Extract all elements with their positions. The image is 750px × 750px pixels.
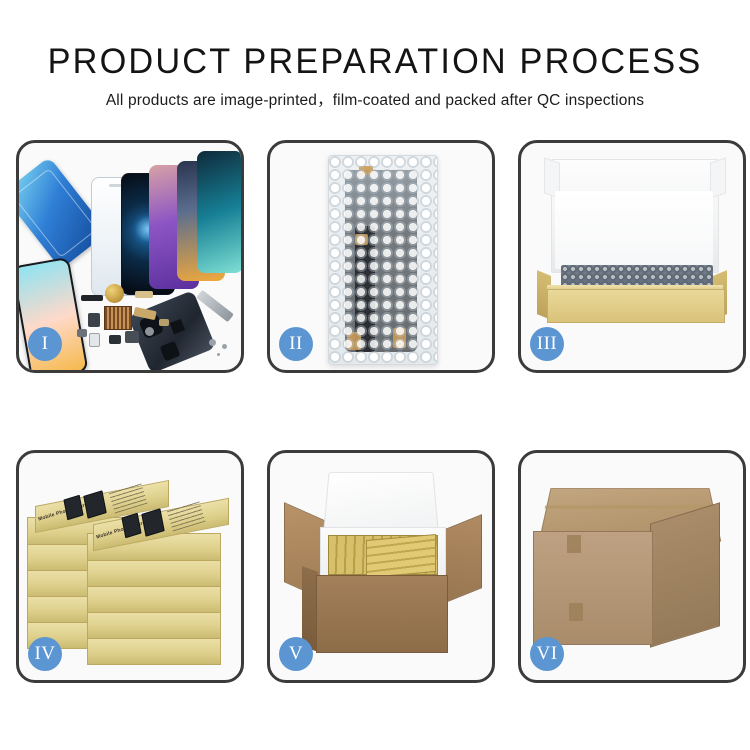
- copper-coil-part-icon: [105, 284, 124, 303]
- spare-part-icon: [159, 319, 169, 326]
- spare-part-icon: [89, 333, 100, 347]
- chip-grid-part-icon: [104, 306, 132, 330]
- gold-boxes-row-icon: [366, 534, 436, 578]
- spare-part-icon: [145, 327, 154, 336]
- spare-part-icon: [88, 313, 100, 327]
- carton-front-face: [316, 575, 448, 653]
- phone-teal-icon: [197, 151, 243, 273]
- page-header: PRODUCT PREPARATION PROCESS All products…: [0, 0, 750, 111]
- process-step-4: Mobile Phone Spare Parts Mobile Phone Sp…: [16, 450, 244, 683]
- step-badge-1: I: [28, 327, 62, 361]
- carton-tape-icon: [569, 603, 583, 621]
- kraft-box-front: [547, 289, 725, 323]
- step-badge-4: IV: [28, 637, 62, 671]
- step-badge-5: V: [279, 637, 313, 671]
- kraft-box-stack-icon: Mobile Phone Spare Parts Mobile Phone Sp…: [27, 471, 239, 671]
- bubble-texture-overlay: [329, 156, 437, 364]
- page-subtitle: All products are image-printed，film-coat…: [0, 82, 750, 111]
- kraft-box: [87, 637, 221, 665]
- spare-part-icon: [81, 295, 103, 301]
- foam-lid-open-icon: [323, 472, 439, 533]
- process-step-2: II: [267, 140, 495, 373]
- process-step-3: III: [518, 140, 746, 373]
- page-title: PRODUCT PREPARATION PROCESS: [8, 0, 743, 82]
- carton-front-face: [533, 531, 653, 645]
- step-badge-2: II: [279, 327, 313, 361]
- process-step-1: I: [16, 140, 244, 373]
- carton-top-seam: [545, 505, 714, 508]
- process-step-grid: I II III: [16, 140, 734, 692]
- process-step-5: V: [267, 450, 495, 683]
- carton-right-face: [650, 502, 720, 647]
- kraft-box: [87, 559, 221, 587]
- kraft-box: [87, 611, 221, 639]
- spare-part-icon: [125, 331, 139, 343]
- bubble-wrap-bag-icon: [328, 155, 438, 365]
- spare-part-icon: [77, 329, 87, 337]
- process-step-6: VI: [518, 450, 746, 683]
- kraft-box: [87, 585, 221, 613]
- spare-part-icon: [109, 335, 121, 344]
- step-badge-6: VI: [530, 637, 564, 671]
- foam-sheet-icon: [555, 191, 713, 269]
- spare-part-icon: [135, 291, 153, 298]
- carton-tape-icon: [567, 535, 581, 553]
- screws-icon: [209, 339, 216, 346]
- step-badge-3: III: [530, 327, 564, 361]
